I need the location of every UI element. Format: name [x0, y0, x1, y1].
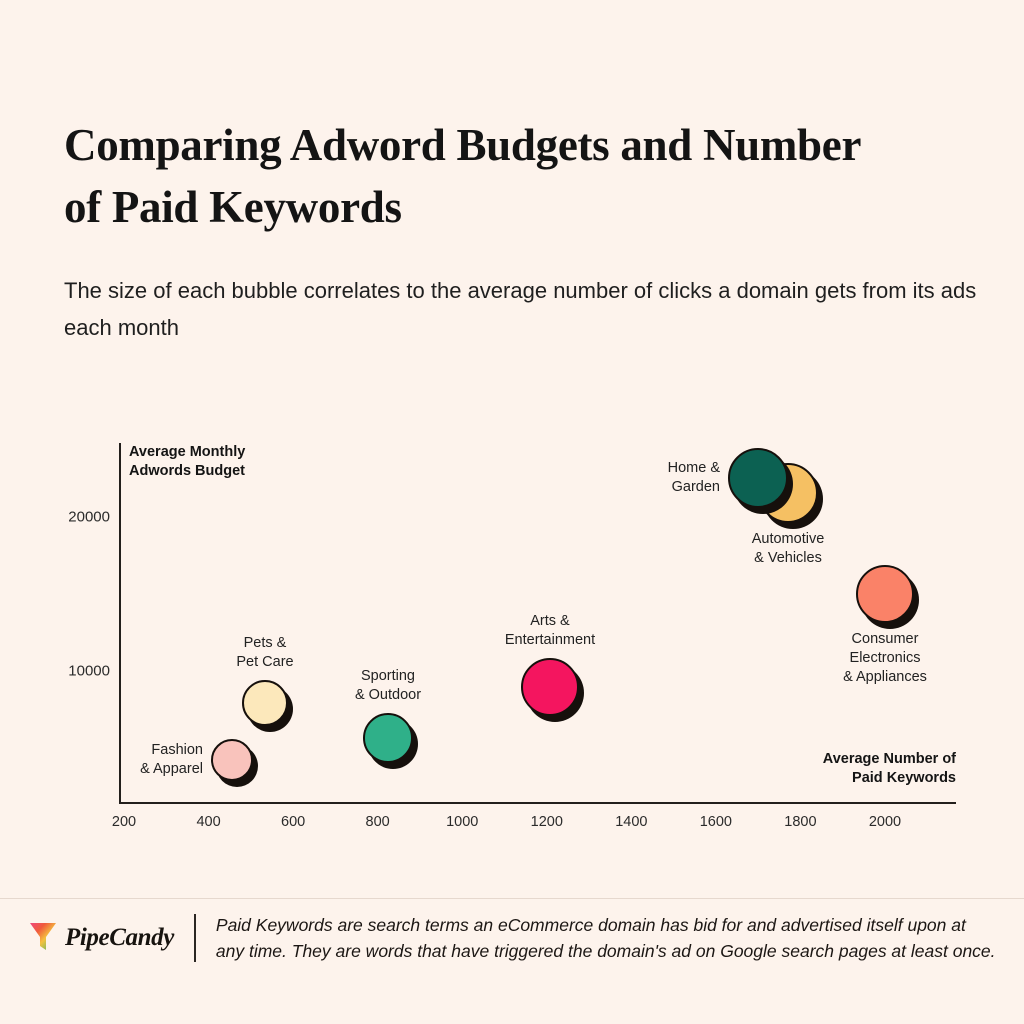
x-tick-label: 400 — [196, 814, 220, 830]
x-tick-label: 1200 — [531, 814, 563, 830]
x-tick-label: 1400 — [615, 814, 647, 830]
x-tick-label: 1000 — [446, 814, 478, 830]
page-title: Comparing Adword Budgets and Number of P… — [64, 114, 964, 238]
page-subtitle: The size of each bubble correlates to th… — [64, 272, 979, 346]
y-tick-label: 10000 — [30, 663, 110, 680]
bubble-label: Pets & Pet Care — [165, 634, 365, 672]
y-axis-line — [119, 443, 121, 804]
bubble-sporting-outdoor[interactable] — [363, 713, 413, 763]
x-axis-title: Average Number of Paid Keywords — [756, 750, 956, 788]
brand-name: PipeCandy — [65, 924, 174, 952]
bubble-home-garden[interactable] — [728, 448, 788, 508]
x-axis-line — [119, 802, 956, 804]
funnel-icon — [28, 919, 58, 958]
y-tick-label: 20000 — [30, 509, 110, 526]
footer-vertical-divider — [194, 914, 196, 962]
x-tick-label: 600 — [281, 814, 305, 830]
bubble-label: Arts & Entertainment — [450, 612, 650, 650]
x-tick-label: 200 — [112, 814, 136, 830]
bubble-label: Consumer Electronics & Appliances — [785, 630, 985, 687]
brand-logo: PipeCandy — [28, 919, 174, 958]
x-tick-label: 1800 — [784, 814, 816, 830]
x-tick-label: 2000 — [869, 814, 901, 830]
x-tick-label: 1600 — [700, 814, 732, 830]
footer-note: Paid Keywords are search terms an eComme… — [210, 912, 996, 964]
bubble-arts-entertainment[interactable] — [521, 658, 579, 716]
infographic-page: Comparing Adword Budgets and Number of P… — [0, 0, 1024, 1024]
bubble-label: Sporting & Outdoor — [288, 667, 488, 705]
bubble-pets-pet-care[interactable] — [242, 680, 288, 726]
footer-divider-rule — [0, 898, 1024, 899]
bubble-label: Automotive & Vehicles — [688, 530, 888, 568]
bubble-automotive-vehicles[interactable] — [758, 463, 818, 523]
bubble-label: Fashion & Apparel — [23, 741, 203, 779]
bubble-label: Home & Garden — [540, 459, 720, 497]
footer: PipeCandy Paid Keywords are search terms… — [28, 912, 996, 964]
x-tick-label: 800 — [366, 814, 390, 830]
y-axis-title: Average Monthly Adwords Budget — [129, 443, 245, 481]
bubble-consumer-electronics-appliances[interactable] — [856, 565, 914, 623]
bubble-fashion-apparel[interactable] — [211, 739, 253, 781]
